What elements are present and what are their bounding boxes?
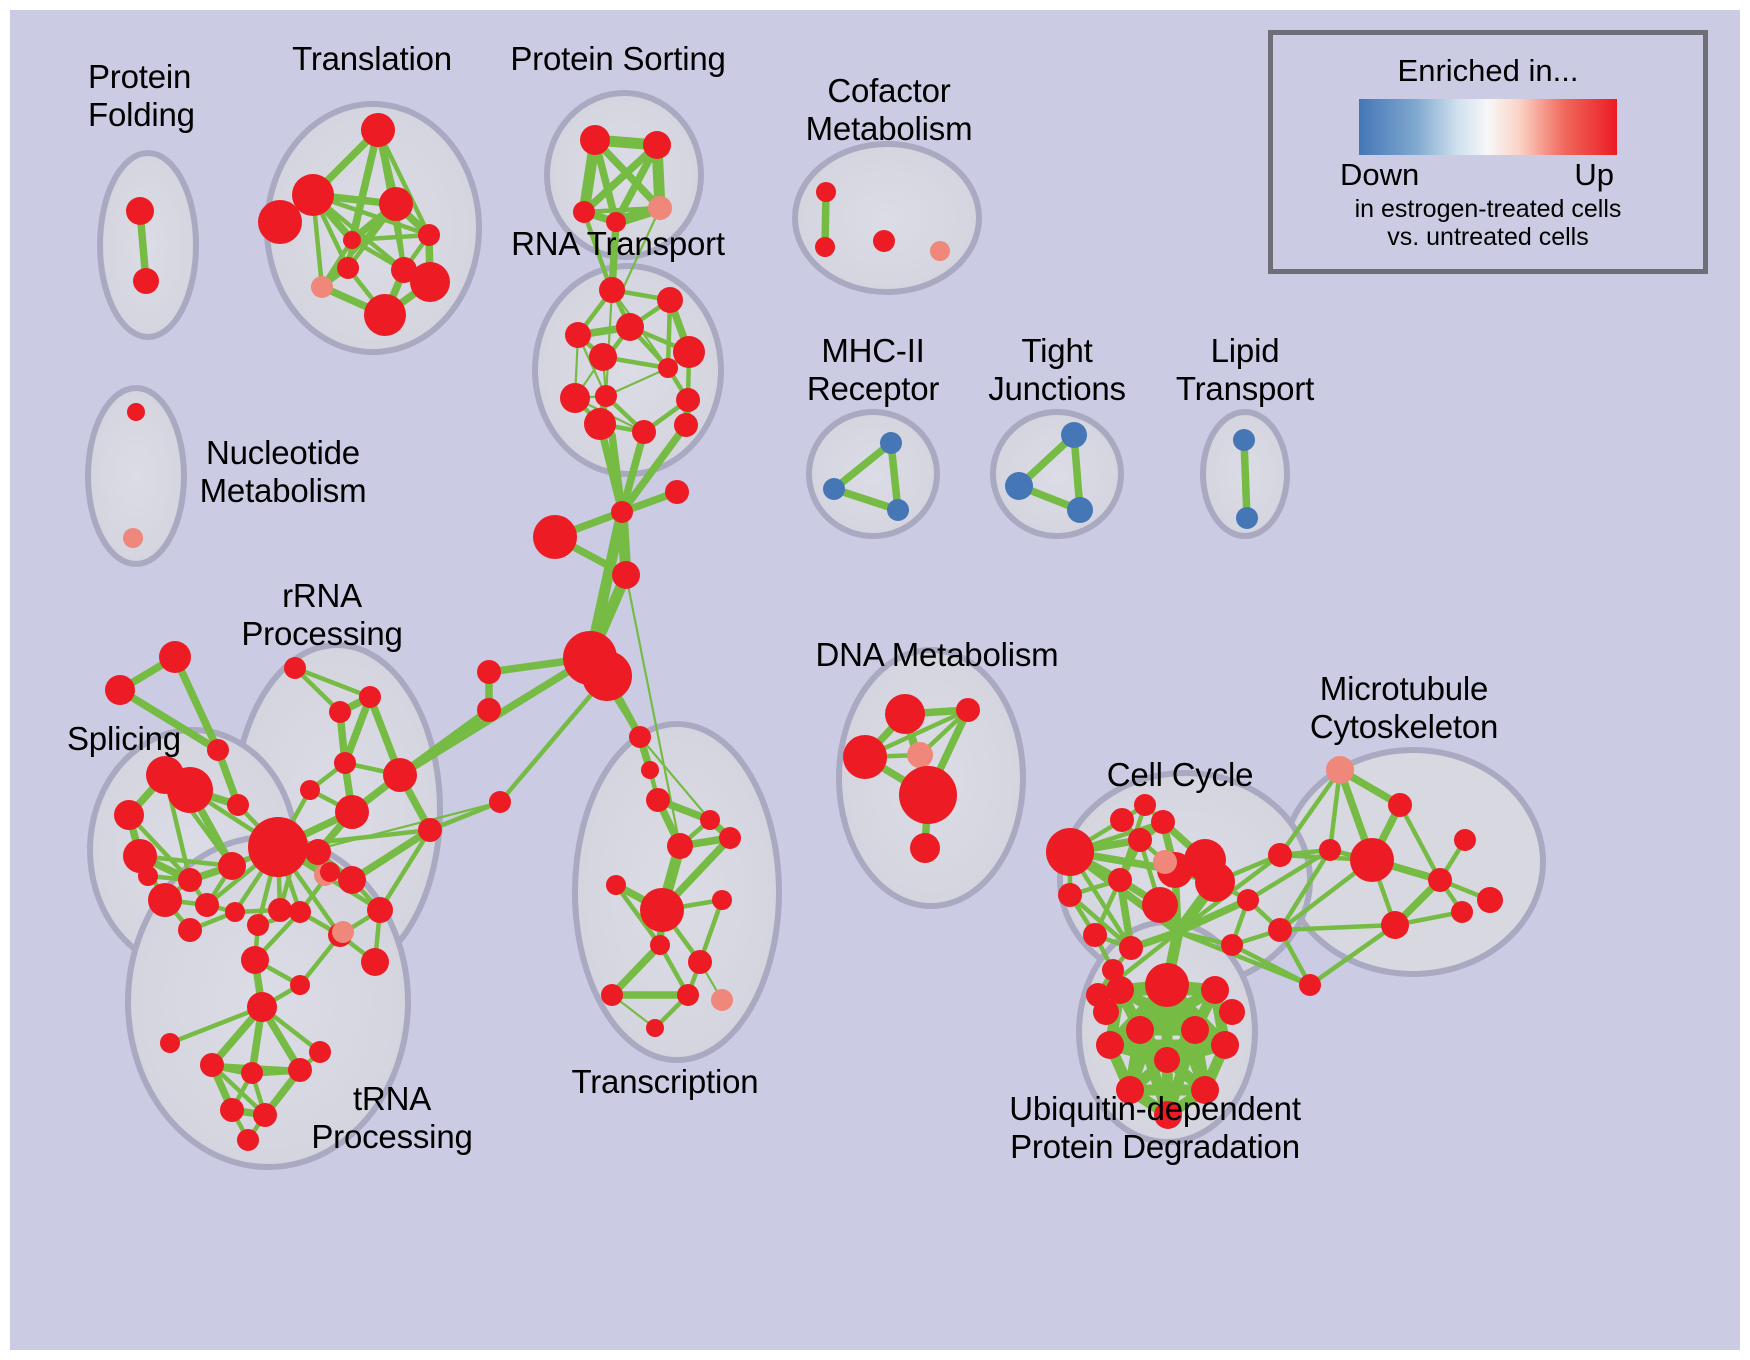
cluster-label-protein-folding: ProteinFolding	[88, 58, 195, 135]
node	[1236, 507, 1258, 529]
node	[383, 758, 417, 792]
hull-protein-folding	[100, 153, 196, 337]
node	[1005, 472, 1033, 500]
node	[658, 358, 678, 378]
node	[1145, 963, 1189, 1007]
node	[300, 780, 320, 800]
node	[311, 276, 333, 298]
node	[1126, 1016, 1154, 1044]
node	[640, 888, 684, 932]
node	[247, 914, 269, 936]
node	[601, 984, 623, 1006]
node	[712, 890, 732, 910]
node	[337, 257, 359, 279]
legend-color-gradient-bar	[1359, 99, 1617, 155]
node	[611, 501, 633, 523]
cluster-label-transcription: Transcription	[572, 1063, 759, 1101]
node	[667, 833, 693, 859]
node	[887, 499, 909, 521]
node	[719, 827, 741, 849]
node	[1061, 422, 1087, 448]
node	[1233, 429, 1255, 451]
node	[616, 313, 644, 341]
node	[1451, 901, 1473, 923]
node	[290, 975, 310, 995]
node	[320, 862, 340, 882]
legend-endpoint-labels: Down Up	[1338, 157, 1638, 195]
cluster-label-translation: Translation	[292, 40, 452, 78]
node	[114, 800, 144, 830]
cluster-label-microtubule-cytoskeleton: MicrotubuleCytoskeleton	[1310, 670, 1498, 747]
node	[1096, 1031, 1124, 1059]
node	[673, 336, 705, 368]
node	[1093, 999, 1119, 1025]
node	[582, 651, 632, 701]
node	[1128, 828, 1152, 852]
node	[1201, 976, 1229, 1004]
cluster-label-dna-metabolism: DNA Metabolism	[816, 636, 1059, 674]
node	[1153, 850, 1177, 874]
node	[1326, 756, 1354, 784]
node	[127, 403, 145, 421]
node	[1350, 838, 1394, 882]
node	[646, 1019, 664, 1037]
node	[648, 196, 672, 220]
node	[823, 478, 845, 500]
node	[237, 1129, 259, 1151]
node	[650, 935, 670, 955]
node	[343, 231, 361, 249]
node	[1211, 1031, 1239, 1059]
node	[700, 810, 720, 830]
node	[1142, 887, 1178, 923]
cluster-label-ubiquitin-protein-degradation: Ubiquitin-dependentProtein Degradation	[1009, 1090, 1301, 1167]
node	[284, 657, 306, 679]
node	[584, 408, 616, 440]
node	[674, 413, 698, 437]
node	[1428, 868, 1452, 892]
node	[361, 948, 389, 976]
node	[815, 237, 835, 257]
node	[418, 224, 440, 246]
enrichment-map-figure: .hull { fill: url(#hullGrad); stroke: #a…	[0, 0, 1750, 1360]
cluster-label-cofactor-metabolism: CofactorMetabolism	[806, 72, 973, 149]
node	[1154, 1047, 1180, 1073]
node	[1151, 810, 1175, 834]
node	[258, 200, 302, 244]
node	[1299, 974, 1321, 996]
node	[477, 698, 501, 722]
node	[227, 794, 249, 816]
node	[359, 686, 381, 708]
node	[629, 726, 651, 748]
node	[1058, 883, 1082, 907]
node	[200, 1053, 224, 1077]
legend-subtitle-line-2: vs. untreated cells	[1273, 223, 1703, 251]
node	[167, 767, 213, 813]
node	[1221, 934, 1243, 956]
node	[606, 875, 626, 895]
node	[248, 817, 308, 877]
node	[489, 791, 511, 813]
node	[612, 561, 640, 589]
node	[580, 125, 610, 155]
node	[332, 921, 354, 943]
node	[1195, 862, 1235, 902]
node	[105, 675, 135, 705]
node	[1477, 887, 1503, 913]
node	[711, 989, 733, 1011]
node	[268, 898, 292, 922]
hull-mhc-ii-receptor	[809, 412, 937, 536]
node	[657, 287, 683, 313]
node	[956, 698, 980, 722]
cluster-label-splicing: Splicing	[67, 720, 181, 758]
node	[565, 322, 591, 348]
node	[1108, 868, 1132, 892]
node	[589, 343, 617, 371]
node	[1319, 839, 1341, 861]
node	[843, 735, 887, 779]
node	[632, 420, 656, 444]
node	[138, 866, 158, 886]
legend-subtitle-line-1: in estrogen-treated cells	[1273, 195, 1703, 223]
cluster-label-trna-processing: tRNAProcessing	[311, 1080, 472, 1157]
node	[573, 201, 595, 223]
node	[899, 766, 957, 824]
node	[910, 833, 940, 863]
hull-rna-transport	[535, 266, 721, 474]
legend-up-label: Up	[1574, 157, 1614, 193]
node	[220, 1098, 244, 1122]
node	[1134, 794, 1156, 816]
node	[160, 1033, 180, 1053]
node	[123, 528, 143, 548]
node	[367, 897, 393, 923]
node	[159, 641, 191, 673]
node	[1067, 497, 1093, 523]
node	[364, 294, 406, 336]
legend-down-label: Down	[1340, 157, 1419, 193]
node	[126, 197, 154, 225]
node	[335, 795, 369, 829]
node	[289, 901, 311, 923]
node	[677, 984, 699, 1006]
node	[1268, 918, 1292, 942]
legend-title: Enriched in...	[1273, 53, 1703, 89]
node	[816, 182, 836, 202]
node	[1237, 889, 1259, 911]
node	[329, 701, 351, 723]
node	[1388, 793, 1412, 817]
node	[305, 839, 331, 865]
node	[1268, 843, 1292, 867]
node	[1110, 808, 1134, 832]
node	[1181, 1016, 1209, 1044]
node	[148, 883, 182, 917]
node	[334, 752, 356, 774]
node	[560, 383, 590, 413]
node	[1219, 999, 1245, 1025]
node	[930, 241, 950, 261]
node	[361, 113, 395, 147]
cluster-label-mhc-ii-receptor: MHC-IIReceptor	[807, 332, 939, 409]
cluster-label-cell-cycle: Cell Cycle	[1107, 756, 1254, 794]
node	[133, 268, 159, 294]
node	[665, 480, 689, 504]
cluster-label-rna-transport: RNA Transport	[511, 225, 725, 263]
node	[218, 852, 246, 880]
node	[880, 432, 902, 454]
node	[907, 742, 933, 768]
node	[1119, 936, 1143, 960]
node	[410, 262, 450, 302]
cluster-label-rrna-processing: rRNAProcessing	[241, 577, 402, 654]
cluster-label-nucleotide-metabolism: NucleotideMetabolism	[200, 434, 367, 511]
node	[241, 946, 269, 974]
node	[1381, 911, 1409, 939]
node	[207, 739, 229, 761]
node	[292, 174, 334, 216]
node	[885, 694, 925, 734]
node	[241, 1062, 263, 1084]
node	[1454, 829, 1476, 851]
node	[247, 992, 277, 1022]
node	[288, 1058, 312, 1082]
node	[1083, 923, 1107, 947]
cluster-label-lipid-transport: LipidTransport	[1176, 332, 1314, 409]
cluster-label-tight-junctions: TightJunctions	[988, 332, 1126, 409]
node	[595, 385, 617, 407]
node	[646, 788, 670, 812]
node	[643, 131, 671, 159]
node	[379, 187, 413, 221]
node	[178, 868, 202, 892]
node	[195, 893, 219, 917]
node	[225, 902, 245, 922]
node	[641, 761, 659, 779]
node	[253, 1103, 277, 1127]
node	[309, 1041, 331, 1063]
node	[1046, 828, 1094, 876]
node	[688, 950, 712, 974]
node	[338, 866, 366, 894]
node	[533, 515, 577, 559]
cluster-label-protein-sorting: Protein Sorting	[510, 40, 725, 78]
node	[599, 277, 625, 303]
node	[178, 918, 202, 942]
legend-panel: Enriched in... Down Up in estrogen-treat…	[1268, 30, 1708, 274]
node	[477, 660, 501, 684]
node	[418, 818, 442, 842]
node	[676, 388, 700, 412]
node	[873, 230, 895, 252]
